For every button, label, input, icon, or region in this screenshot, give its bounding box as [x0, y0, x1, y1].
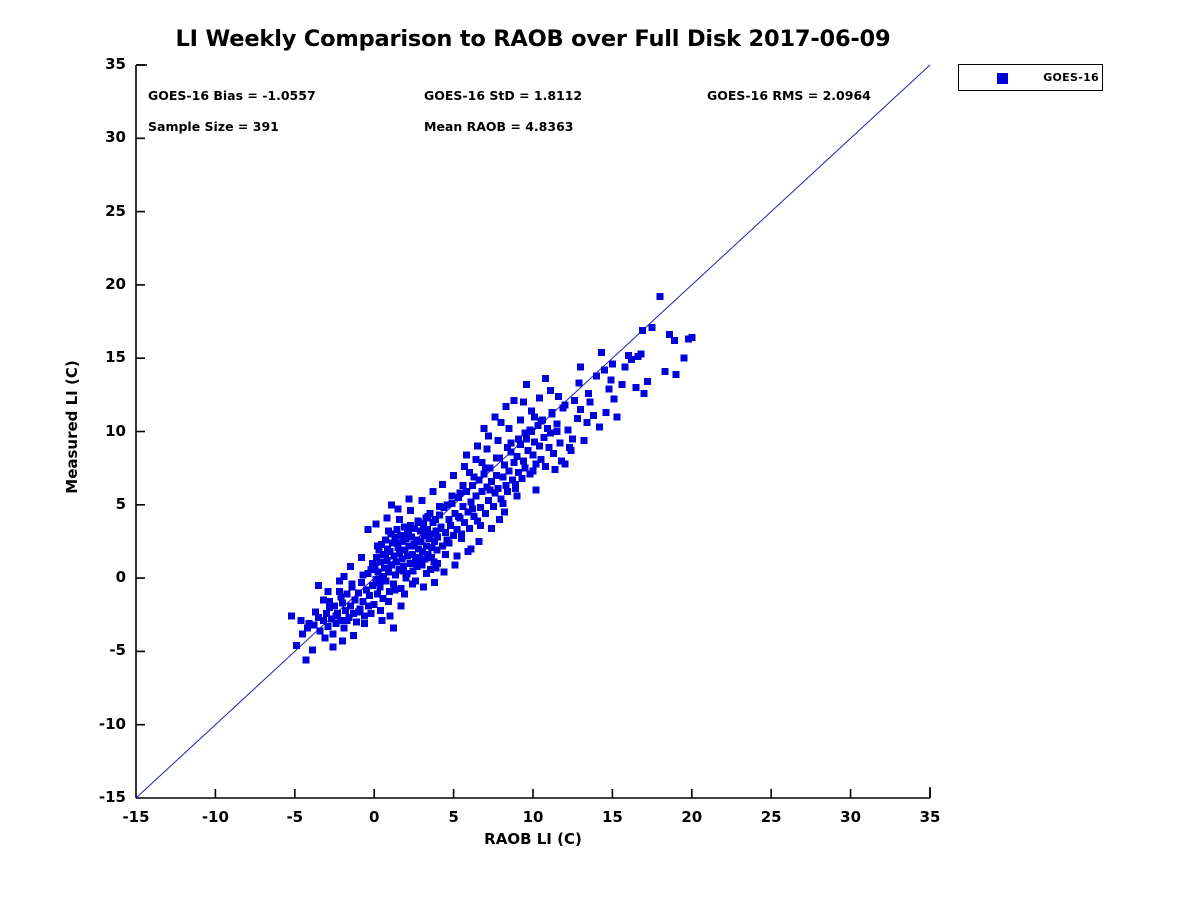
y-tick-label: 5 [74, 495, 126, 513]
x-tick-label: 5 [424, 808, 484, 826]
x-tick-label: 10 [503, 808, 563, 826]
x-tick-label: -15 [106, 808, 166, 826]
x-tick-label: 35 [900, 808, 960, 826]
y-tick-label: 35 [74, 55, 126, 73]
y-tick-label: 0 [74, 568, 126, 586]
x-tick-label: -5 [265, 808, 325, 826]
x-tick-label: 20 [662, 808, 722, 826]
x-tick-label: 25 [741, 808, 801, 826]
figure-canvas: LI Weekly Comparison to RAOB over Full D… [0, 0, 1200, 900]
y-tick-label: 25 [74, 202, 126, 220]
legend: GOES-16 [958, 64, 1103, 91]
x-tick-label: 30 [821, 808, 881, 826]
y-tick-label: 30 [74, 128, 126, 146]
data-points-group [288, 293, 695, 664]
y-tick-label: 10 [74, 422, 126, 440]
y-tick-label: 15 [74, 348, 126, 366]
x-axis-title: RAOB LI (C) [128, 830, 938, 848]
x-tick-label: 0 [344, 808, 404, 826]
scatter-plot-area [0, 0, 1200, 900]
x-tick-label: -10 [185, 808, 245, 826]
y-tick-label: -15 [74, 788, 126, 806]
y-tick-label: -10 [74, 715, 126, 733]
legend-marker-goes-16 [997, 73, 1008, 84]
x-tick-label: 15 [582, 808, 642, 826]
legend-label-goes-16: GOES-16 [1021, 71, 1099, 84]
y-tick-label: -5 [74, 641, 126, 659]
y-tick-label: 20 [74, 275, 126, 293]
